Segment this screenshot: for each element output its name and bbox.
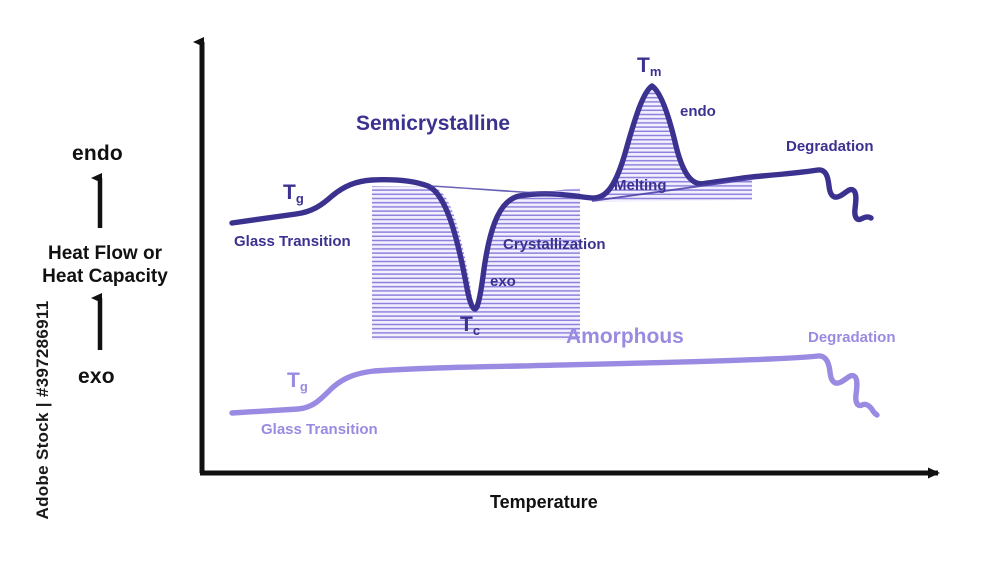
label-degradation-amorphous: Degradation — [808, 330, 896, 347]
label-tg-amorphous: Tg — [287, 369, 308, 393]
tg-amorphous-symbol-sub: g — [300, 379, 308, 394]
tm-symbol-sub: m — [650, 64, 662, 79]
x-axis-title: Temperature — [490, 492, 598, 512]
figure-canvas: endo Heat Flow or Heat Capacity exo Temp… — [0, 0, 1000, 565]
series-title-amorphous: Amorphous — [566, 325, 684, 349]
tc-symbol-text: T — [460, 313, 473, 336]
crystallization-baseline — [430, 186, 560, 194]
label-tc-semicrystalline: Tc — [460, 313, 480, 337]
y-axis-exo-label: exo — [78, 365, 115, 389]
label-glass-transition-amorphous: Glass Transition — [261, 422, 378, 439]
tg-symbol-sub: g — [296, 191, 304, 206]
label-melting: Melting — [614, 178, 667, 195]
series-title-semicrystalline: Semicrystalline — [356, 112, 510, 136]
label-degradation-semicrystalline: Degradation — [786, 139, 874, 156]
adobe-stock-watermark: Adobe Stock | #397286911 — [33, 285, 53, 535]
label-endo-melting: endo — [680, 104, 716, 121]
tm-symbol-text: T — [637, 54, 650, 77]
tg-amorphous-symbol-text: T — [287, 369, 300, 392]
label-tg-semicrystalline: Tg — [283, 181, 304, 205]
tg-symbol-text: T — [283, 181, 296, 204]
label-crystallization: Crystallization — [503, 237, 606, 254]
tc-symbol-sub: c — [473, 323, 480, 338]
amorphous-curve — [232, 356, 877, 415]
label-exo-crystallization: exo — [490, 274, 516, 291]
y-axis-endo-label: endo — [72, 142, 123, 166]
label-glass-transition-semicrystalline: Glass Transition — [234, 234, 351, 251]
label-tm-semicrystalline: Tm — [637, 54, 661, 78]
y-axis-title-line1: Heat Flow or — [30, 243, 180, 264]
